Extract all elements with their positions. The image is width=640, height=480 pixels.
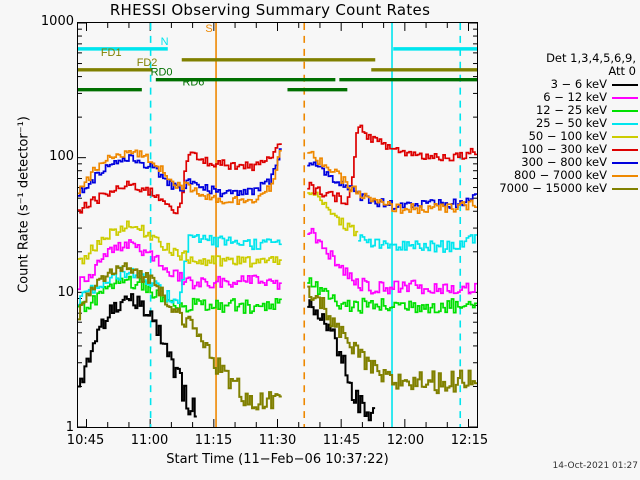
legend-color-swatch bbox=[612, 188, 638, 190]
legend-color-swatch bbox=[612, 149, 638, 151]
legend-item[interactable]: 7000 − 15000 keV bbox=[486, 182, 638, 195]
annotation-label-fd1: FD1 bbox=[101, 47, 122, 59]
series-path bbox=[78, 235, 282, 305]
legend-color-swatch bbox=[612, 110, 638, 112]
series-50-100-kev bbox=[78, 192, 358, 266]
legend: Det 1,3,4,5,6,9, Att 0 3 − 6 keV6 − 12 k… bbox=[486, 52, 638, 195]
annotation-label-s: S bbox=[205, 23, 212, 35]
series-path bbox=[78, 263, 282, 409]
y-tick-label: 100 bbox=[34, 149, 74, 164]
x-tick-label: 10:45 bbox=[56, 433, 116, 448]
x-tick-label: 11:45 bbox=[311, 433, 371, 448]
legend-color-swatch bbox=[612, 123, 638, 125]
legend-color-swatch bbox=[612, 84, 638, 86]
x-tick-label: 11:15 bbox=[184, 433, 244, 448]
series-3-6-kev bbox=[78, 294, 375, 420]
series-path bbox=[78, 221, 282, 266]
x-axis-label: Start Time (11−Feb−06 10:37:22) bbox=[77, 452, 478, 467]
legend-color-swatch bbox=[612, 136, 638, 138]
plot-area: NSFD1FD2RD0RD6 bbox=[77, 22, 478, 428]
y-axis-ticks: 1000100101 bbox=[28, 0, 74, 480]
annotation-label-n: N bbox=[161, 36, 169, 48]
x-axis-ticks: 10:4511:0011:1511:3011:4512:0012:15 bbox=[0, 433, 640, 453]
legend-rows: 3 − 6 keV6 − 12 keV12 − 25 keV25 − 50 ke… bbox=[486, 78, 638, 195]
x-tick-label: 11:00 bbox=[120, 433, 180, 448]
page-title: RHESSI Observing Summary Count Rates bbox=[0, 1, 540, 19]
x-tick-label: 12:15 bbox=[439, 433, 499, 448]
annotation-label-rd0: RD0 bbox=[151, 67, 173, 79]
legend-item-label: 7000 − 15000 keV bbox=[499, 182, 607, 195]
y-tick-label: 1000 bbox=[34, 14, 74, 29]
x-tick-label: 11:30 bbox=[248, 433, 308, 448]
legend-color-swatch bbox=[612, 175, 638, 177]
legend-color-swatch bbox=[612, 97, 638, 99]
y-tick-label: 10 bbox=[34, 285, 74, 300]
annotation-label-rd6: RD6 bbox=[182, 77, 204, 89]
x-tick-label: 12:00 bbox=[375, 433, 435, 448]
plot-svg: NSFD1FD2RD0RD6 bbox=[78, 23, 477, 427]
legend-color-swatch bbox=[612, 162, 638, 164]
chart-page: RHESSI Observing Summary Count Rates Cou… bbox=[0, 0, 640, 480]
render-timestamp: 14-Oct-2021 01:27 bbox=[498, 461, 638, 471]
series-path bbox=[307, 192, 358, 235]
series-path bbox=[358, 235, 477, 252]
